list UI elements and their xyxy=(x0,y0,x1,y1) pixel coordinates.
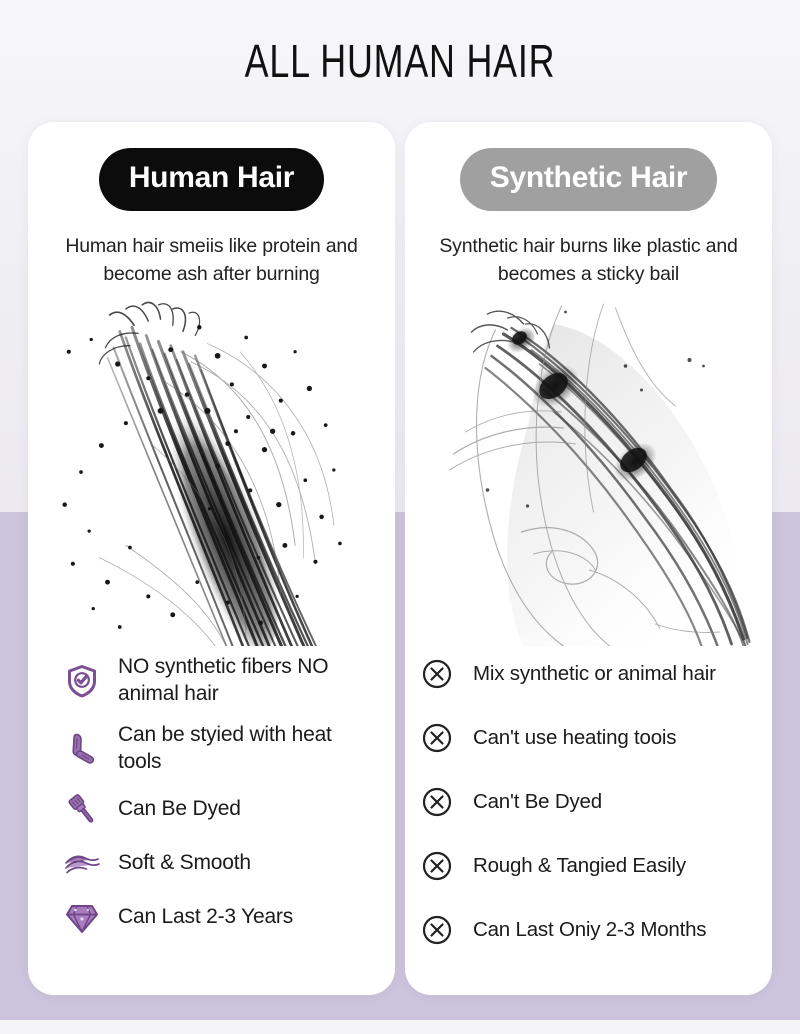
feature-row: Mix synthetic or animal hair xyxy=(417,654,762,694)
infographic-page: ALL HUMAN HAIR Human Hair Human hair sme… xyxy=(0,0,800,1034)
pill-wrap-human-hair: Human Hair xyxy=(28,122,395,211)
feature-row: NO synthetic fibers NO animal hair xyxy=(62,654,379,708)
flat-iron-icon xyxy=(62,729,102,769)
feature-row: Soft & Smooth xyxy=(62,844,379,884)
circle-x-icon xyxy=(417,654,457,694)
diamond-icon xyxy=(62,898,102,938)
card-human-hair: Human Hair Human hair smeiis like protei… xyxy=(28,122,395,995)
feature-label: Can Last 2-3 Years xyxy=(118,904,293,931)
photo-melted-synthetic-hair xyxy=(405,294,772,646)
circle-x-icon xyxy=(417,910,457,950)
feature-row: Can be styied with heat tools xyxy=(62,722,379,776)
circle-x-icon xyxy=(417,718,457,758)
feature-row: Can't Be Dyed xyxy=(417,782,762,822)
feature-list-synthetic-hair: Mix synthetic or animal hair Can't use h… xyxy=(405,646,772,995)
badge-synthetic-hair: Synthetic Hair xyxy=(460,148,718,211)
circle-x-icon xyxy=(417,782,457,822)
description-synthetic-hair: Synthetic hair burns like plastic and be… xyxy=(405,211,772,288)
feature-list-human-hair: NO synthetic fibers NO animal hair xyxy=(28,646,395,995)
silky-hair-strands-icon xyxy=(62,844,102,884)
feature-label: Can't Be Dyed xyxy=(473,789,602,815)
comparison-columns: Human Hair Human hair smeiis like protei… xyxy=(0,0,800,1034)
badge-human-hair: Human Hair xyxy=(99,148,324,211)
description-human-hair: Human hair smeiis like protein and becom… xyxy=(28,211,395,288)
feature-label: Can Be Dyed xyxy=(118,796,241,823)
feature-label: Can't use heating toois xyxy=(473,725,676,751)
feature-label: NO synthetic fibers NO animal hair xyxy=(118,654,379,708)
pill-wrap-synthetic-hair: Synthetic Hair xyxy=(405,122,772,211)
feature-row: Can Last Oniy 2-3 Months xyxy=(417,910,762,950)
feature-label: Mix synthetic or animal hair xyxy=(473,661,716,687)
feature-row: Rough & Tangied Easily xyxy=(417,846,762,886)
feature-row: Can't use heating toois xyxy=(417,718,762,758)
hair-dye-brush-icon xyxy=(62,790,102,830)
feature-label: Can Last Oniy 2-3 Months xyxy=(473,917,706,943)
feature-row: Can Be Dyed xyxy=(62,790,379,830)
photo-burned-human-hair xyxy=(28,294,395,646)
feature-row: Can Last 2-3 Years xyxy=(62,898,379,938)
feature-label: Can be styied with heat tools xyxy=(118,722,379,776)
circle-x-icon xyxy=(417,846,457,886)
feature-label: Soft & Smooth xyxy=(118,850,251,877)
shield-check-icon xyxy=(62,661,102,701)
feature-label: Rough & Tangied Easily xyxy=(473,853,686,879)
card-synthetic-hair: Synthetic Hair Synthetic hair burns like… xyxy=(405,122,772,995)
